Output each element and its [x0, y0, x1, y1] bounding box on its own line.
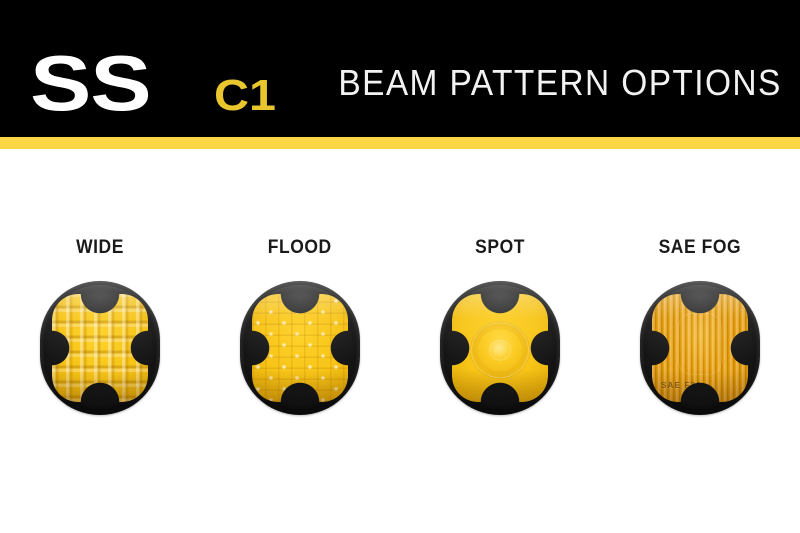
lamp-image-spot — [440, 281, 560, 415]
ssc1-logo: SS C1 — [30, 44, 270, 122]
yellow-accent-bar — [0, 137, 800, 149]
page-title: BEAM PATTERN OPTIONS — [339, 62, 782, 104]
beam-pattern-label-sae-fog: SAE FOG — [659, 237, 742, 259]
lamp-lens-wide — [52, 294, 148, 402]
beam-pattern-label-flood: FLOOD — [268, 237, 332, 259]
beam-pattern-card-flood: FLOOD — [200, 149, 400, 533]
sae-certification-stamp: SAE F21 — [661, 381, 702, 390]
lamp-image-sae-fog: SAE F21 — [640, 281, 760, 415]
beam-pattern-card-spot: SPOT — [400, 149, 600, 533]
beam-pattern-label-wide: WIDE — [76, 237, 124, 259]
beam-pattern-options-page: SS C1 BEAM PATTERN OPTIONS WIDE FLOOD — [0, 0, 800, 533]
lamp-image-flood — [240, 281, 360, 415]
logo-secondary-text: C1 — [214, 74, 276, 118]
lamp-lens-sae-fog: SAE F21 — [652, 294, 748, 402]
reflector-ring — [471, 322, 529, 378]
beam-pattern-card-wide: WIDE — [0, 149, 200, 533]
lens-texture-smooth-reflector — [452, 294, 548, 402]
header-band: SS C1 BEAM PATTERN OPTIONS — [0, 0, 800, 137]
logo-primary-text: SS — [30, 44, 150, 122]
lamp-image-wide — [40, 281, 160, 415]
lamp-lens-spot — [452, 294, 548, 402]
beam-pattern-label-spot: SPOT — [475, 237, 525, 259]
lamp-lens-flood — [252, 294, 348, 402]
lens-texture-waffle-grid — [52, 294, 148, 402]
lens-texture-dimpled-optics — [252, 294, 348, 402]
beam-pattern-card-sae-fog: SAE FOG SAE F21 — [600, 149, 800, 533]
lens-center-boss — [678, 313, 722, 375]
beam-pattern-grid: WIDE FLOOD — [0, 149, 800, 533]
